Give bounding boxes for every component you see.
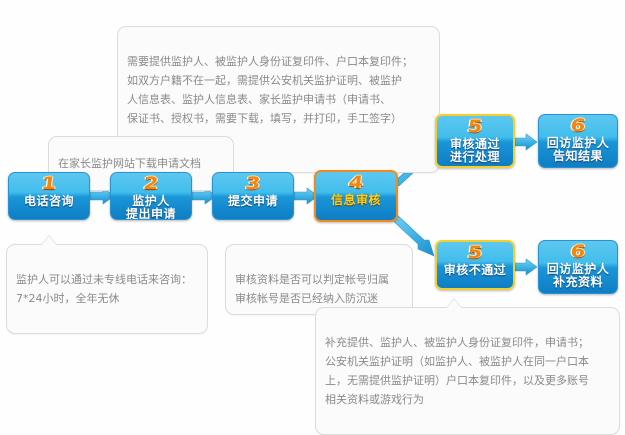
node-step2-label: 监护人 提出申请 <box>126 195 176 220</box>
node-step1[interactable]: 1 电话咨询 <box>8 172 90 220</box>
callout-supplement-required: 补充提供、监护人、被监护人身份证复印件，申请书； 公安机关监护证明（如监护人、被… <box>315 307 620 435</box>
callout-hotline: 监护人可以通过未专线电话来咨询： 7*24小时，全年无休 <box>6 244 208 334</box>
node-step3-label: 提交申请 <box>228 195 278 208</box>
node-step1-label: 电话咨询 <box>24 195 74 208</box>
node-step4-number: 4 <box>347 175 365 192</box>
node-step2[interactable]: 2 监护人 提出申请 <box>110 172 192 220</box>
arrow-step5b-step6b <box>513 259 537 275</box>
node-step6-supplement[interactable]: 6 回访监护人 补充资料 <box>538 240 618 294</box>
node-step5-rejected[interactable]: 5 审核不通过 <box>435 240 515 290</box>
node-step5-approved[interactable]: 5 审核通过 进行处理 <box>435 114 515 168</box>
node-step1-number: 1 <box>40 176 58 193</box>
node-step5-approved-label: 审核通过 进行处理 <box>450 138 500 164</box>
node-step5-rejected-number: 5 <box>466 245 484 262</box>
node-step6-notify[interactable]: 6 回访监护人 告知结果 <box>538 114 618 168</box>
callout-hotline-text: 监护人可以通过未专线电话来咨询： 7*24小时，全年无休 <box>16 273 192 305</box>
callout-supplement-required-text: 补充提供、监护人、被监护人身份证复印件，申请书； 公安机关监护证明（如监护人、被… <box>325 336 589 406</box>
node-step4-label: 信息审核 <box>331 194 381 207</box>
callout-tail-supplement <box>446 298 462 308</box>
node-step5-approved-number: 5 <box>466 119 484 136</box>
node-step5-rejected-label: 审核不通过 <box>444 264 507 277</box>
node-step6-supplement-label: 回访监护人 补充资料 <box>547 263 610 289</box>
node-step4[interactable]: 4 信息审核 <box>314 170 398 222</box>
callout-review-criteria: 审核资料是否可以判定帐号归属 审核帐号是否已经纳入防沉迷 <box>225 244 413 315</box>
flowchart-canvas: 需要提供监护人、被监护人身份证复印件、户口本复印件； 如双方户籍不在一起，需提供… <box>0 0 625 407</box>
node-step6-supplement-number: 6 <box>569 244 587 261</box>
node-step6-notify-number: 6 <box>569 118 587 135</box>
node-step3-number: 3 <box>244 176 262 193</box>
callout-review-criteria-text: 审核资料是否可以判定帐号归属 审核帐号是否已经纳入防沉迷 <box>235 273 389 305</box>
node-step3[interactable]: 3 提交申请 <box>212 172 294 220</box>
callout-documents-required-text: 需要提供监护人、被监护人身份证复印件、户口本复印件； 如双方户籍不在一起，需提供… <box>127 55 413 125</box>
node-step2-number: 2 <box>142 176 160 193</box>
node-step6-notify-label: 回访监护人 告知结果 <box>547 137 610 163</box>
callout-download-site-text: 在家长监护网站下载申请文档 <box>58 157 201 170</box>
arrow-step5a-step6a <box>513 134 537 150</box>
callout-tail-hotline <box>41 235 57 245</box>
